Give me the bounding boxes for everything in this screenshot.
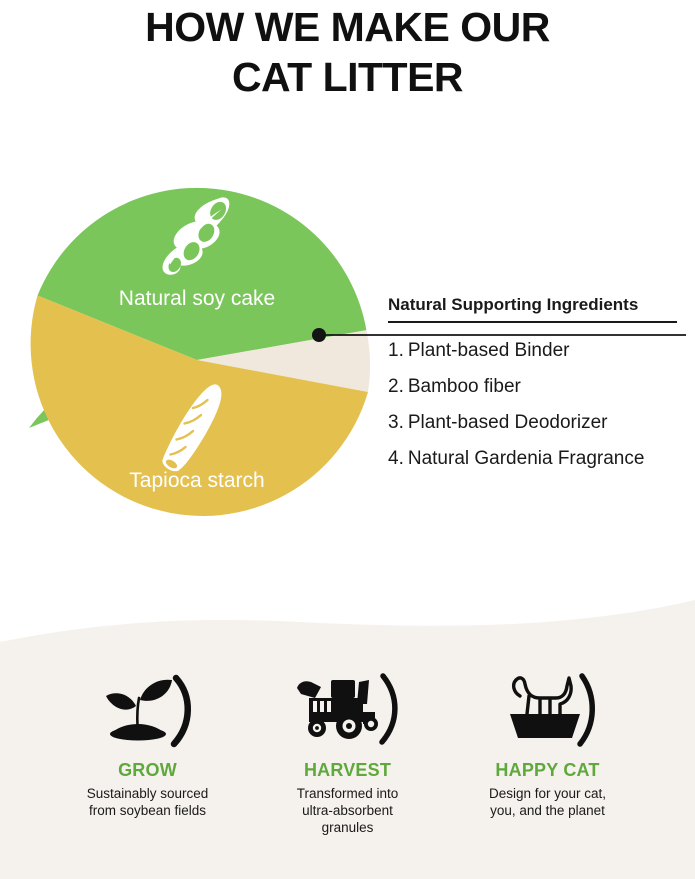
feature-description: Design for your cat, you, and the planet xyxy=(483,785,613,819)
sprout-icon xyxy=(100,670,196,750)
feature-row: GROW Sustainably sourced from soybean fi… xyxy=(0,668,695,836)
list-item-label: Bamboo fiber xyxy=(408,376,521,397)
feature-happy-cat: HAPPY CAT Design for your cat, you, and … xyxy=(448,668,648,819)
list-item-label: Plant-based Deodorizer xyxy=(408,412,608,433)
combine-harvester-icon xyxy=(293,670,403,750)
feature-title: HARVEST xyxy=(304,760,391,781)
cat-litter-box-icon xyxy=(496,670,600,750)
feature-harvest: HARVEST Transformed into ultra-absorbent… xyxy=(248,668,448,836)
process-section: GROW Sustainably sourced from soybean fi… xyxy=(0,580,695,879)
list-item-label: Plant-based Binder xyxy=(408,340,570,361)
page-header: HOW WE MAKE OUR CAT LITTER xyxy=(0,0,695,102)
list-item-number: 1. xyxy=(388,340,404,361)
callout-dot xyxy=(312,328,326,342)
page-title: HOW WE MAKE OUR CAT LITTER xyxy=(0,2,695,102)
supporting-ingredients-title: Natural Supporting Ingredients xyxy=(388,295,688,315)
pie-label-natural-soy-cake: Natural soy cake xyxy=(119,287,275,310)
combine-harvester-icon-box xyxy=(293,668,403,752)
list-item-number: 2. xyxy=(388,376,404,397)
feature-title: GROW xyxy=(118,760,177,781)
pie-label-tapioca-starch: Tapioca starch xyxy=(129,469,264,492)
page-title-line-1: HOW WE MAKE OUR xyxy=(145,4,550,50)
list-item: 1.Plant-based Binder xyxy=(388,333,688,369)
list-item-number: 4. xyxy=(388,448,404,469)
feature-title: HAPPY CAT xyxy=(495,760,599,781)
list-item-number: 3. xyxy=(388,412,404,433)
list-item: 2.Bamboo fiber xyxy=(388,369,688,405)
list-item: 3.Plant-based Deodorizer xyxy=(388,405,688,441)
list-item: 4.Natural Gardenia Fragrance xyxy=(388,441,688,477)
sprout-icon-box xyxy=(100,668,196,752)
supporting-ingredients-list: 1.Plant-based Binder 2.Bamboo fiber 3.Pl… xyxy=(388,333,688,477)
feature-description: Transformed into ultra-absorbent granule… xyxy=(283,785,413,836)
feature-description: Sustainably sourced from soybean fields xyxy=(83,785,213,819)
title-underline xyxy=(388,321,677,323)
list-item-label: Natural Gardenia Fragrance xyxy=(408,448,645,469)
page-title-line-2: CAT LITTER xyxy=(0,52,695,102)
supporting-ingredients-panel: Natural Supporting Ingredients 1.Plant-b… xyxy=(388,295,688,477)
feature-grow: GROW Sustainably sourced from soybean fi… xyxy=(48,668,248,819)
cat-litter-box-icon-box xyxy=(496,668,600,752)
